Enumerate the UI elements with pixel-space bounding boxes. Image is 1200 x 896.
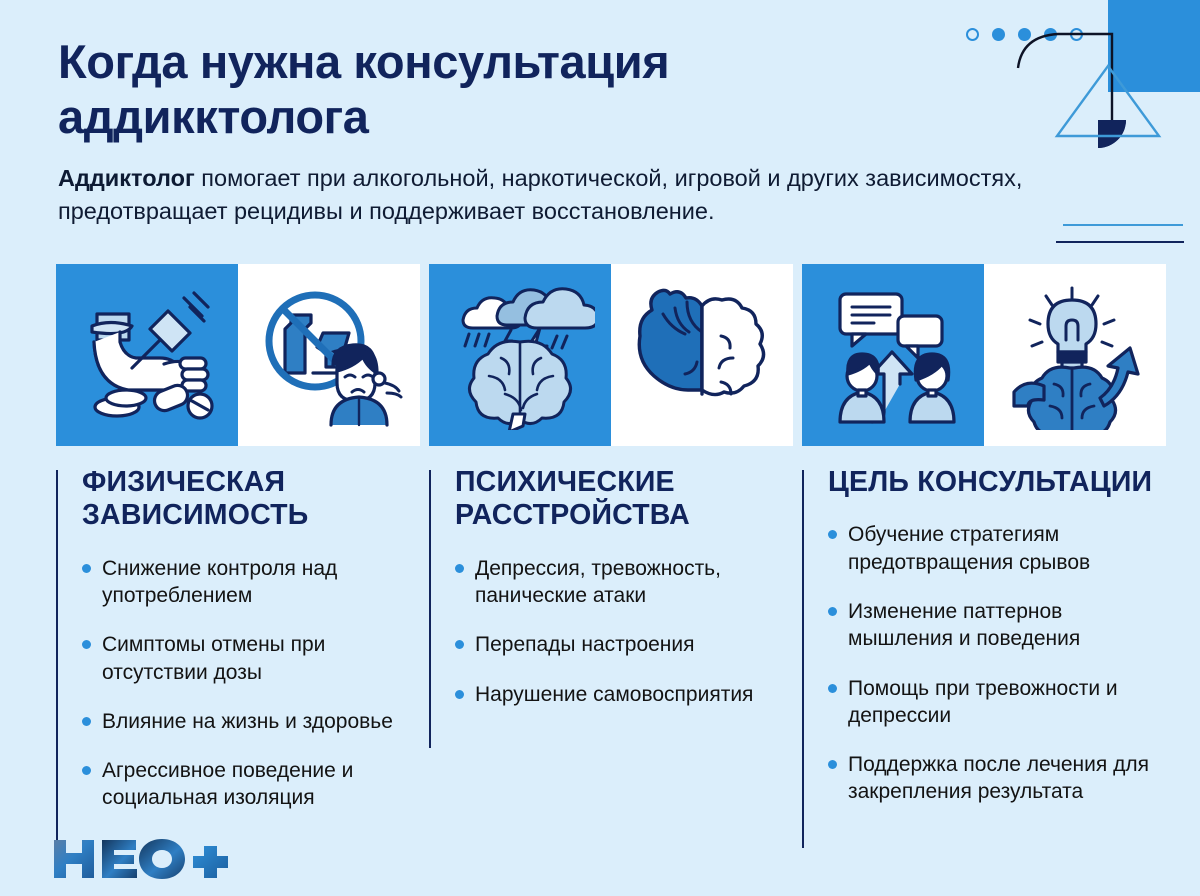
neo-plus-logo: [52, 836, 242, 882]
rule-dark-decoration: [1056, 241, 1184, 243]
tile-no-alcohol: [238, 264, 420, 446]
list-item-text: Перепады настроения: [475, 633, 695, 656]
tile-heart-brain: [611, 264, 793, 446]
bullet-icon: [82, 564, 91, 573]
list-item-text: Изменение паттернов мышления и поведения: [848, 600, 1080, 650]
column-physical-dependence: ФИЗИЧЕСКАЯ ЗАВИСИМОСТЬ Снижение контроля…: [56, 466, 401, 834]
list-item-text: Обучение стратегиям предотвращения срыво…: [848, 523, 1090, 573]
rule-light-decoration: [1063, 224, 1183, 226]
bullet-icon: [455, 564, 464, 573]
tile-group-mental: [429, 264, 793, 446]
list-item: Поддержка после лечения для закрепления …: [828, 751, 1162, 806]
tile-lightbulb-brain: [984, 264, 1166, 446]
list-item: Обучение стратегиям предотвращения срыво…: [828, 521, 1162, 576]
bullet-icon: [828, 607, 837, 616]
list-item-text: Помощь при тревожности и депрессии: [848, 677, 1118, 727]
bullet-icon: [828, 684, 837, 693]
tile-group-goal: [802, 264, 1166, 446]
bullet-icon: [82, 766, 91, 775]
bullet-icon: [455, 690, 464, 699]
tile-people-chat: [802, 264, 984, 446]
page-subtitle: Аддиктолог помогает при алкогольной, нар…: [58, 162, 1118, 229]
column-heading: ЦЕЛЬ КОНСУЛЬТАЦИИ: [828, 466, 1162, 499]
list-item: Перепады настроения: [455, 631, 774, 658]
column-list: Снижение контроля над употреблением Симп…: [82, 555, 401, 812]
tile-arm-syringe: [56, 264, 238, 446]
list-item: Помощь при тревожности и депрессии: [828, 675, 1162, 730]
page-title: Когда нужна консультация аддикктолога: [58, 34, 878, 145]
arm-syringe-pills-icon: [72, 280, 222, 430]
tile-group-physical: [56, 264, 420, 446]
list-item: Симптомы отмены при отсутствии дозы: [82, 631, 401, 686]
heart-brain-split-icon: [629, 282, 775, 428]
list-item-text: Агрессивное поведение и социальная изоля…: [102, 759, 353, 809]
bullet-icon: [82, 640, 91, 649]
column-heading: ПСИХИЧЕСКИЕ РАССТРОЙСТВА: [455, 466, 774, 533]
icon-tile-row: [0, 264, 1200, 446]
lightbulb-brain-arrows-icon: [1000, 280, 1150, 430]
tile-storm-brain: [429, 264, 611, 446]
storm-clouds-brain-icon: [445, 280, 595, 430]
list-item-text: Нарушение самовосприятия: [475, 683, 753, 706]
list-item: Снижение контроля над употреблением: [82, 555, 401, 610]
triangle-outline-decoration: [1053, 62, 1163, 140]
list-item: Влияние на жизнь и здоровье: [82, 708, 401, 735]
people-speech-bubbles-arrow-icon: [818, 280, 968, 430]
column-mental-disorders: ПСИХИЧЕСКИЕ РАССТРОЙСТВА Депрессия, трев…: [429, 466, 774, 730]
list-item-text: Влияние на жизнь и здоровье: [102, 710, 393, 733]
column-heading: ФИЗИЧЕСКАЯ ЗАВИСИМОСТЬ: [82, 466, 401, 533]
list-item: Нарушение самовосприятия: [455, 681, 774, 708]
bullet-icon: [828, 760, 837, 769]
bullet-icon: [82, 717, 91, 726]
infographic-canvas: Когда нужна консультация аддикктолога Ад…: [0, 0, 1200, 896]
column-list: Обучение стратегиям предотвращения срыво…: [828, 521, 1162, 805]
subtitle-lead-word: Аддиктолог: [58, 165, 195, 191]
subtitle-rest: помогает при алкогольной, наркотической,…: [58, 165, 1022, 224]
list-item: Агрессивное поведение и социальная изоля…: [82, 757, 401, 812]
dot-hollow-icon: [966, 28, 979, 41]
column-list: Депрессия, тревожность, панические атаки…: [455, 555, 774, 708]
list-item: Депрессия, тревожность, панические атаки: [455, 555, 774, 610]
list-item-text: Симптомы отмены при отсутствии дозы: [102, 633, 325, 683]
bullet-icon: [828, 530, 837, 539]
list-item-text: Снижение контроля над употреблением: [102, 557, 337, 607]
no-alcohol-sad-person-icon: [253, 279, 405, 431]
list-item-text: Депрессия, тревожность, панические атаки: [475, 557, 721, 607]
list-item-text: Поддержка после лечения для закрепления …: [848, 753, 1149, 803]
column-consultation-goal: ЦЕЛЬ КОНСУЛЬТАЦИИ Обучение стратегиям пр…: [802, 466, 1162, 828]
list-item: Изменение паттернов мышления и поведения: [828, 598, 1162, 653]
bullet-icon: [455, 640, 464, 649]
